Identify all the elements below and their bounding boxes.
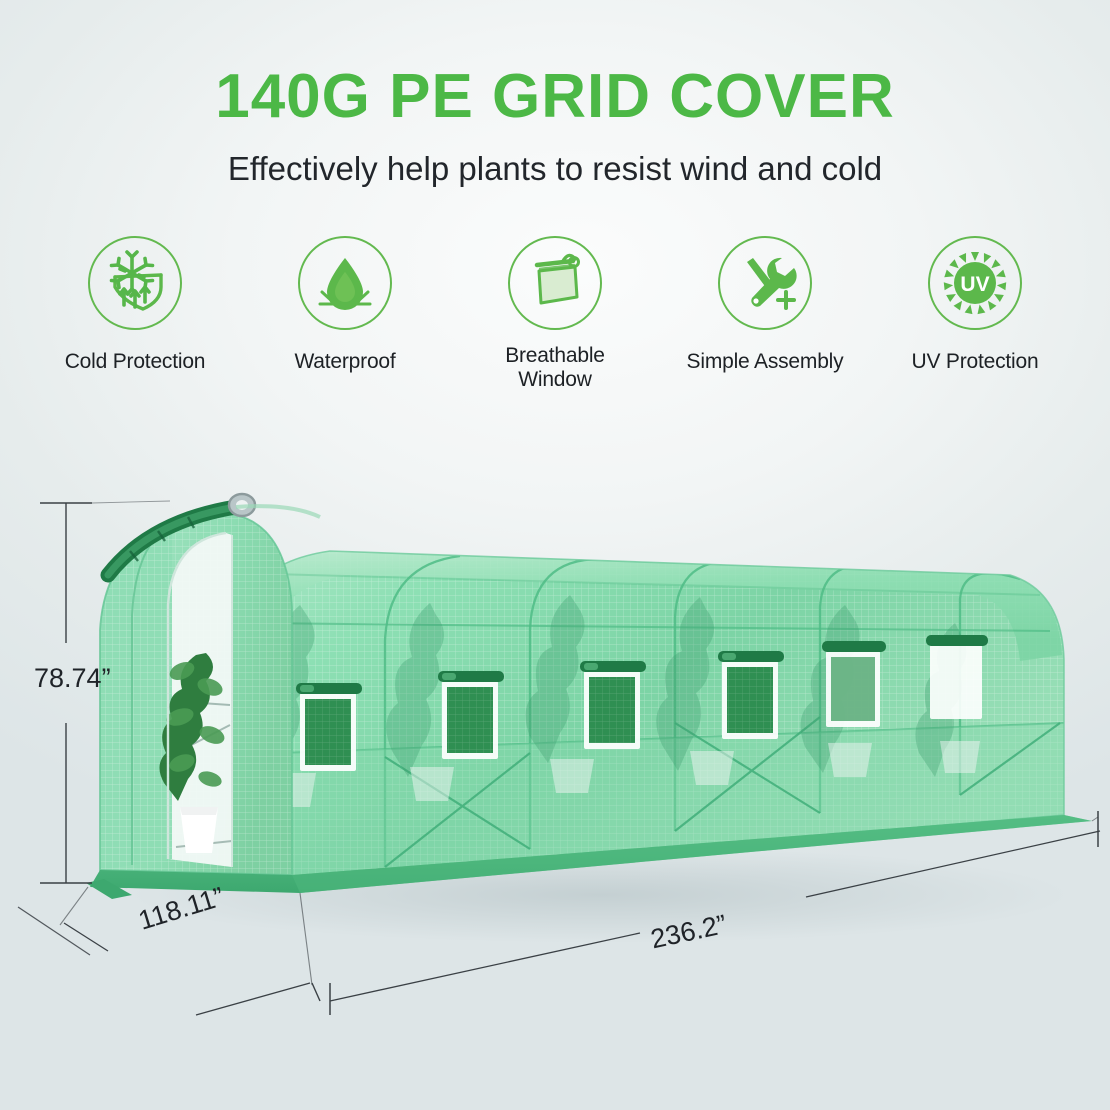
page-title: 140G PE GRID COVER: [0, 66, 1110, 128]
header: 140G PE GRID COVER Effectively help plan…: [0, 0, 1110, 188]
feature-list: Cold Protection Waterproof: [35, 236, 1075, 391]
feature-uv-protection: UV UV Protection: [875, 236, 1075, 374]
feature-waterproof: Waterproof: [245, 236, 445, 374]
feature-label: Breathable Window: [505, 344, 605, 391]
uv-icon-text: UV: [960, 273, 989, 296]
feature-cold-protection: Cold Protection: [35, 236, 235, 374]
feature-label: UV Protection: [912, 350, 1039, 374]
rollup-window-icon: [508, 236, 602, 330]
rollup-window[interactable]: [926, 635, 988, 719]
feature-label: Simple Assembly: [687, 350, 844, 374]
snowflake-shield-icon: [88, 236, 182, 330]
rollup-window[interactable]: [822, 641, 886, 727]
rollup-window[interactable]: [580, 661, 646, 749]
dimension-height-label: 78.74”: [34, 663, 111, 694]
feature-breathable-window: Breathable Window: [455, 236, 655, 391]
page-subtitle: Effectively help plants to resist wind a…: [0, 150, 1110, 188]
feature-label: Cold Protection: [65, 350, 206, 374]
rollup-window[interactable]: [296, 683, 362, 771]
uv-sun-icon: UV: [928, 236, 1022, 330]
water-droplet-icon: [298, 236, 392, 330]
wrench-screwdriver-icon: [718, 236, 812, 330]
greenhouse-front: [100, 513, 292, 875]
rollup-window[interactable]: [438, 671, 504, 759]
rollup-window[interactable]: [718, 651, 784, 739]
feature-label-line1: Breathable: [505, 344, 605, 367]
feature-simple-assembly: Simple Assembly: [665, 236, 865, 374]
feature-label: Waterproof: [294, 350, 395, 374]
product-illustration: 78.74” 118.11” 236.2”: [0, 455, 1110, 1110]
feature-label-line2: Window: [518, 368, 592, 391]
